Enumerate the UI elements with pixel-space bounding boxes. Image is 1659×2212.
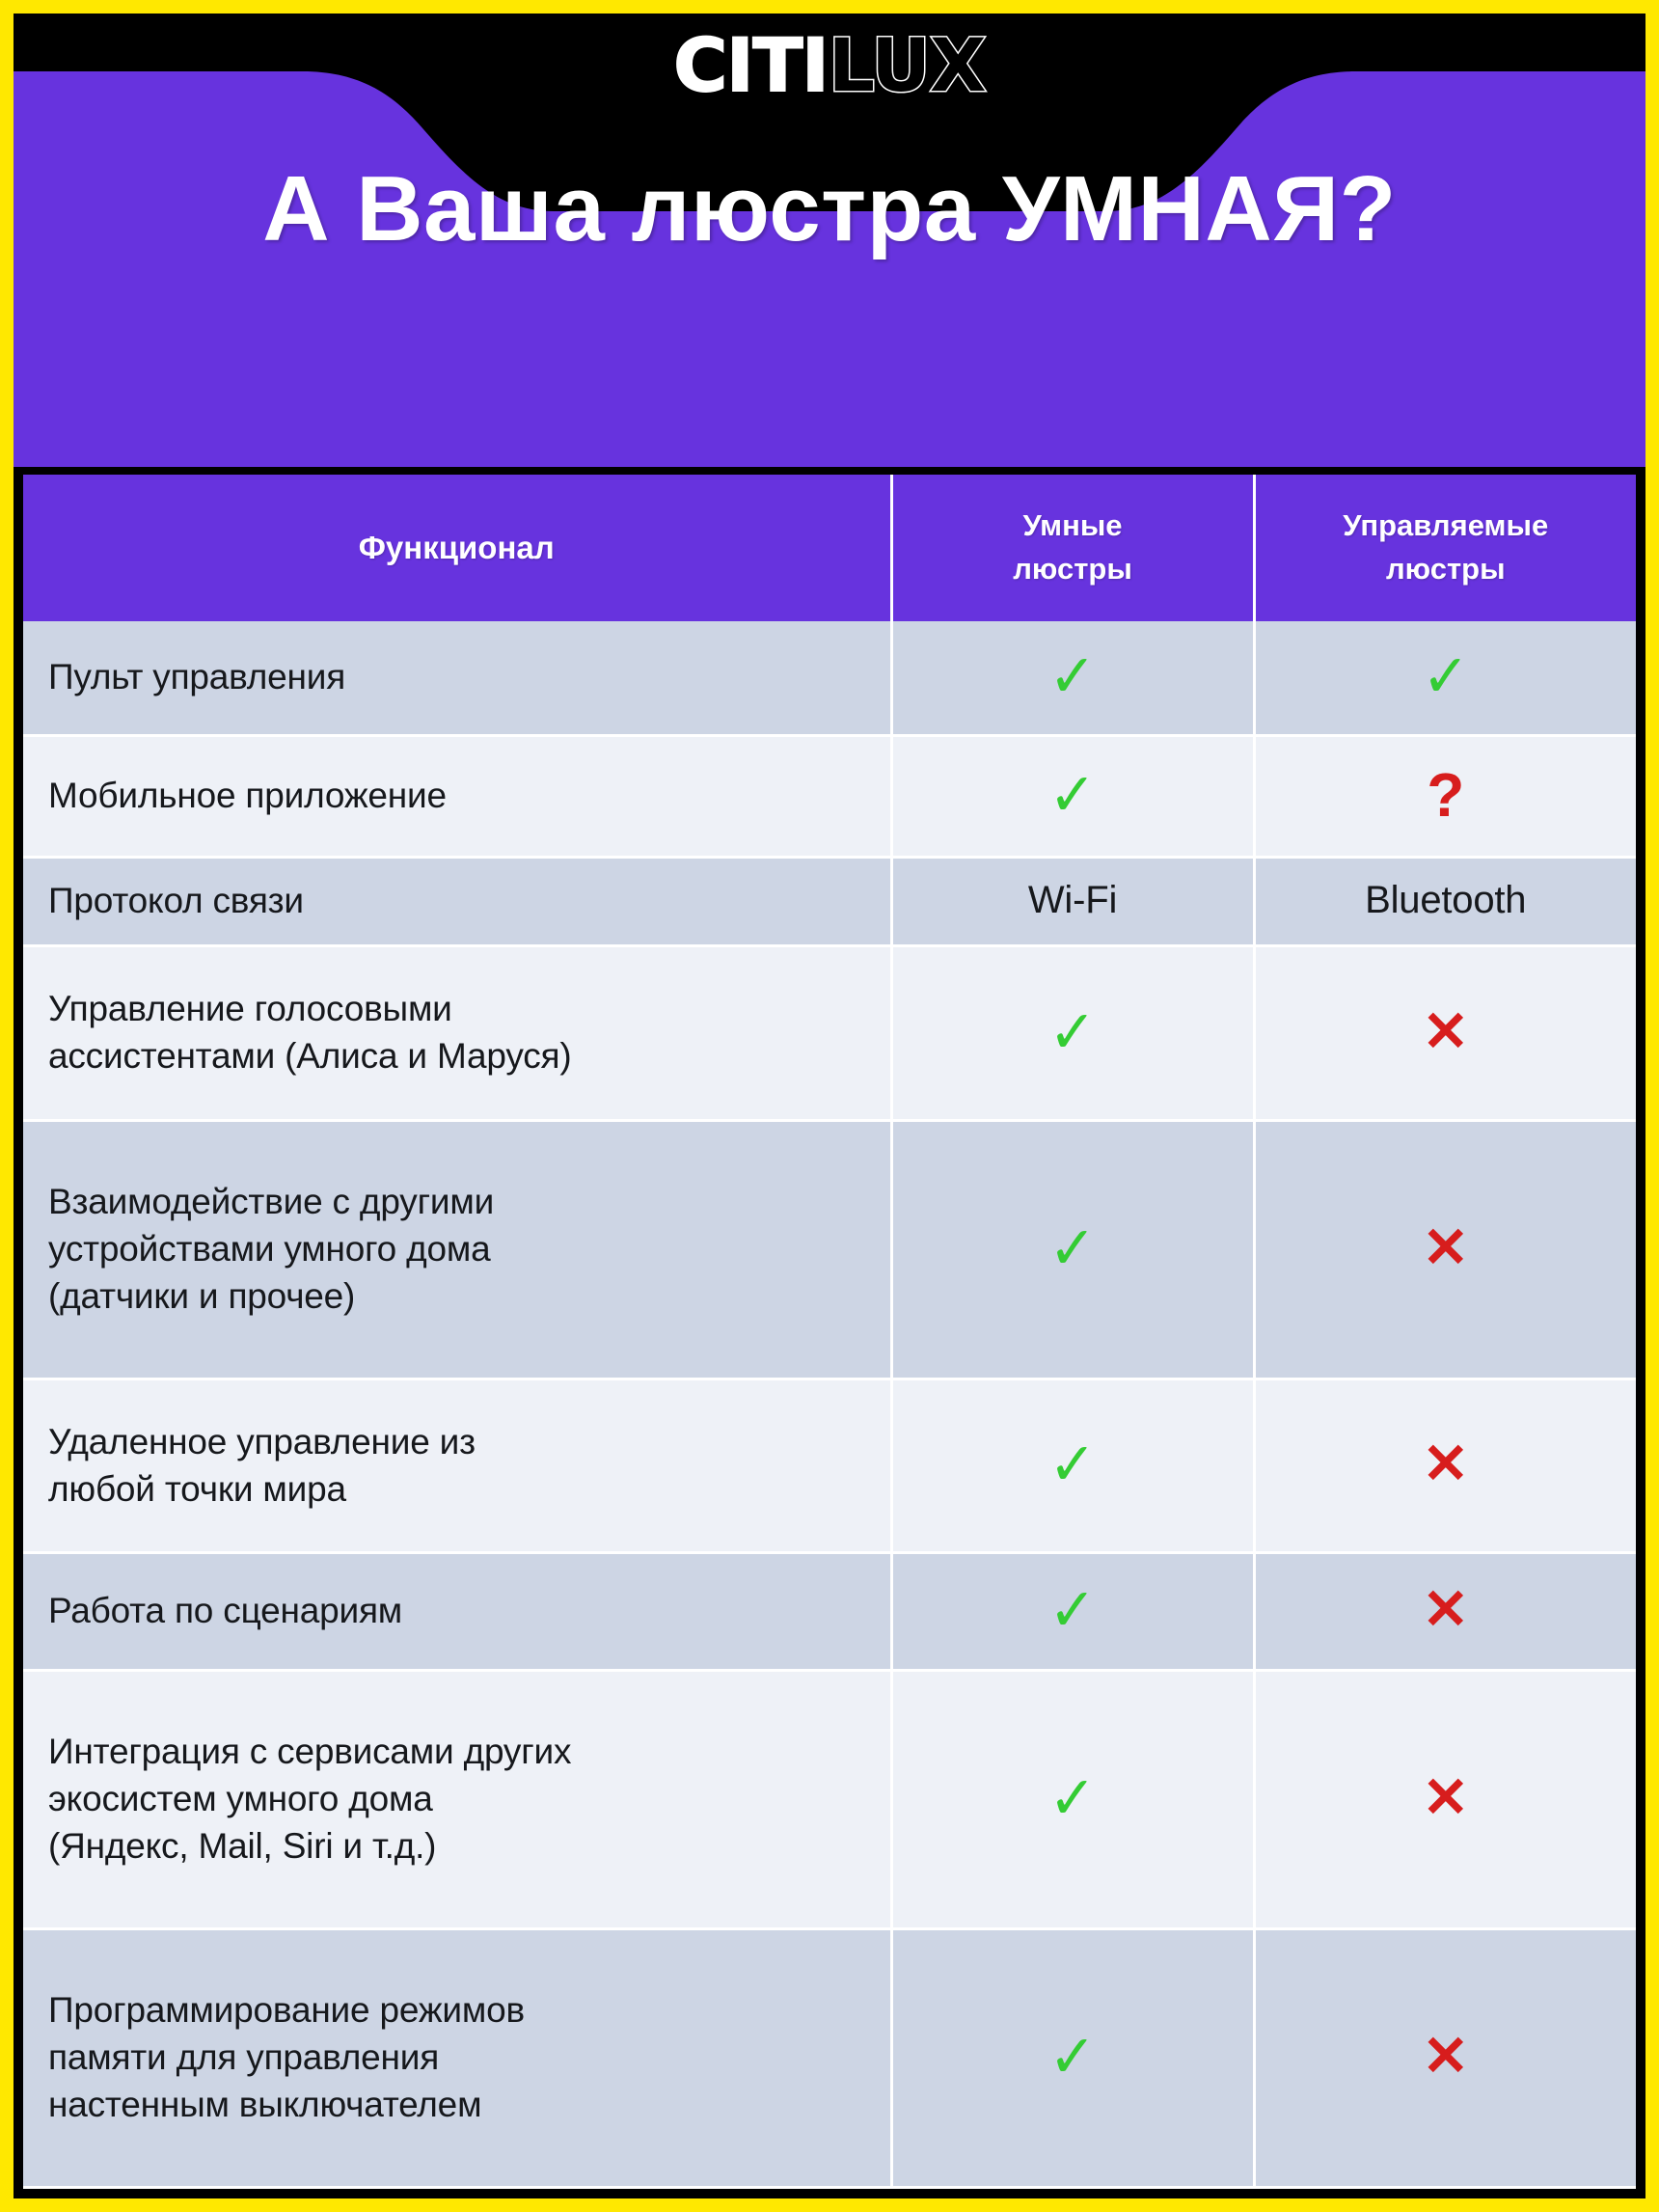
feature-text-line: устройствами умного дома [48,1226,890,1273]
feature-text-line: Мобильное приложение [48,773,890,820]
value-text: Wi-Fi [1028,881,1117,919]
feature-text-line: (Яндекс, Mail, Siri и т.д.) [48,1823,890,1871]
feature-cell: Протокол связи [23,857,891,946]
question-mark-icon: ? [1427,764,1464,826]
controlled-value-cell: ? [1254,736,1636,857]
feature-text-line: экосистем умного дома [48,1776,890,1823]
feature-cell: Взаимодействие с другимиустройствами умн… [23,1120,891,1379]
infographic-poster: CITILUX А Ваша люстра УМНАЯ? Функционал … [0,0,1659,2212]
table-header-row: Функционал Умные люстры Управляемые люст… [23,475,1636,621]
column-header-controlled-line1: Управляемые [1256,505,1637,548]
comparison-table: Функционал Умные люстры Управляемые люст… [23,475,1636,2189]
smart-value-cell: ✓ [891,736,1254,857]
check-icon: ✓ [1048,646,1096,706]
column-header-smart: Умные люстры [891,475,1254,621]
feature-cell: Работа по сценариям [23,1553,891,1671]
feature-text-line: Программирование режимов [48,1987,890,2034]
comparison-table-container: Функционал Умные люстры Управляемые люст… [23,475,1636,2189]
feature-text-line: настенным выключателем [48,2082,890,2129]
smart-value-cell: ✓ [891,621,1254,736]
hero-banner: CITILUX А Ваша люстра УМНАЯ? [14,14,1645,467]
page-title: А Ваша люстра УМНАЯ? [14,158,1645,260]
feature-cell: Удаленное управление излюбой точки мира [23,1379,891,1552]
column-header-controlled: Управляемые люстры [1254,475,1636,621]
logo-lux-text: LUX [829,22,986,108]
controlled-value-cell: ✕ [1254,1670,1636,1928]
smart-value-cell: ✓ [891,1670,1254,1928]
logo-citi-text: CITI [673,22,828,108]
controlled-value-cell: ✕ [1254,1553,1636,1671]
brand-logo: CITILUX [14,29,1645,102]
feature-text-line: (датчики и прочее) [48,1273,890,1321]
check-icon: ✓ [1048,1768,1096,1828]
check-icon: ✓ [1048,1002,1096,1062]
cross-icon: ✕ [1423,1436,1469,1492]
table-row: Мобильное приложение✓? [23,736,1636,857]
cross-icon: ✕ [1423,1220,1469,1276]
check-icon: ✓ [1048,765,1096,825]
table-head: Функционал Умные люстры Управляемые люст… [23,475,1636,621]
controlled-value-cell: ✕ [1254,1120,1636,1379]
cross-icon: ✕ [1423,1582,1469,1638]
feature-text-line: Удаленное управление из [48,1419,890,1466]
table-row: Удаленное управление излюбой точки мира✓… [23,1379,1636,1552]
feature-text-line: Работа по сценариям [48,1588,890,1635]
table-row: Взаимодействие с другимиустройствами умн… [23,1120,1636,1379]
table-row: Интеграция с сервисами другихэкосистем у… [23,1670,1636,1928]
feature-text-line: Протокол связи [48,878,890,925]
table-row: Пульт управления✓✓ [23,621,1636,736]
smart-value-cell: ✓ [891,1379,1254,1552]
controlled-value-cell: ✕ [1254,1379,1636,1552]
table-body: Пульт управления✓✓Мобильное приложение✓?… [23,621,1636,2188]
smart-value-cell: ✓ [891,946,1254,1120]
table-row: Управление голосовымиассистентами (Алиса… [23,946,1636,1120]
controlled-value-cell: ✕ [1254,1928,1636,2187]
check-icon: ✓ [1048,2027,1096,2087]
controlled-value-cell: Bluetooth [1254,857,1636,946]
check-icon: ✓ [1422,646,1469,706]
cross-icon: ✕ [1423,1770,1469,1826]
table-row: Работа по сценариям✓✕ [23,1553,1636,1671]
feature-cell: Мобильное приложение [23,736,891,857]
cross-icon: ✕ [1423,1004,1469,1060]
column-header-feature: Функционал [23,475,891,621]
controlled-value-cell: ✕ [1254,946,1636,1120]
check-icon: ✓ [1048,1434,1096,1494]
feature-cell: Управление голосовымиассистентами (Алиса… [23,946,891,1120]
feature-cell: Программирование режимовпамяти для управ… [23,1928,891,2187]
value-text: Bluetooth [1365,881,1526,919]
table-row: Протокол связиWi-FiBluetooth [23,857,1636,946]
check-icon: ✓ [1048,1218,1096,1278]
column-header-controlled-line2: люстры [1256,548,1637,591]
feature-cell: Интеграция с сервисами другихэкосистем у… [23,1670,891,1928]
feature-text-line: Пульт управления [48,654,890,701]
cross-icon: ✕ [1423,2029,1469,2085]
feature-text-line: любой точки мира [48,1466,890,1514]
feature-text-line: Взаимодействие с другими [48,1179,890,1226]
table-row: Программирование режимовпамяти для управ… [23,1928,1636,2187]
check-icon: ✓ [1048,1580,1096,1640]
feature-text-line: ассистентами (Алиса и Маруся) [48,1033,890,1080]
controlled-value-cell: ✓ [1254,621,1636,736]
column-header-smart-line1: Умные [893,505,1253,548]
feature-cell: Пульт управления [23,621,891,736]
smart-value-cell: ✓ [891,1120,1254,1379]
smart-value-cell: Wi-Fi [891,857,1254,946]
feature-text-line: Интеграция с сервисами других [48,1729,890,1776]
smart-value-cell: ✓ [891,1553,1254,1671]
feature-text-line: Управление голосовыми [48,986,890,1033]
smart-value-cell: ✓ [891,1928,1254,2187]
column-header-smart-line2: люстры [893,548,1253,591]
feature-text-line: памяти для управления [48,2034,890,2082]
